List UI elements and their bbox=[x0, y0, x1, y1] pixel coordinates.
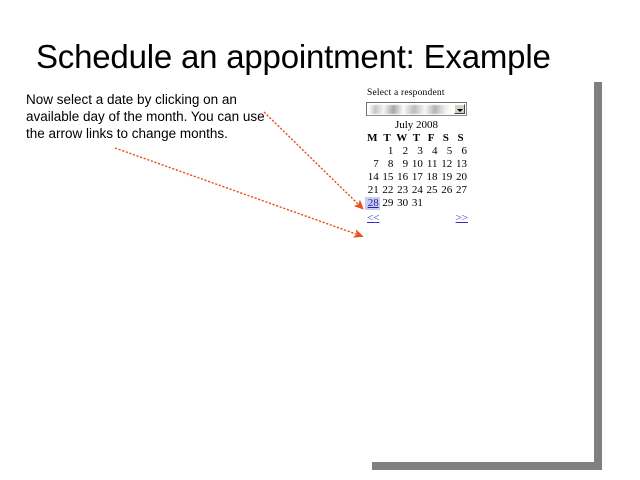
calendar-day-cell bbox=[365, 145, 380, 158]
calendar-day-cell: 27 bbox=[453, 184, 468, 197]
calendar-day-cell bbox=[424, 197, 439, 210]
calendar-day-cell: 1 bbox=[380, 145, 395, 158]
weekday-header-fri: F bbox=[424, 132, 439, 145]
next-month-link[interactable]: >> bbox=[454, 212, 468, 224]
calendar-day-cell: 13 bbox=[453, 158, 468, 171]
calendar-day-cell: 24 bbox=[409, 184, 424, 197]
weekday-header-wed: W bbox=[394, 132, 409, 145]
calendar-day-cell: 26 bbox=[439, 184, 454, 197]
calendar-day-cell bbox=[439, 197, 454, 210]
calendar-table: M T W T F S S 1 2 3 4 5 6 bbox=[365, 132, 468, 210]
calendar-day-cell: 16 bbox=[394, 171, 409, 184]
calendar-day-cell: 7 bbox=[365, 158, 380, 171]
calendar-weekday-header-row: M T W T F S S bbox=[365, 132, 468, 145]
calendar-day-cell: 23 bbox=[394, 184, 409, 197]
calendar-week-row: 21 22 23 24 25 26 27 bbox=[365, 184, 468, 197]
calendar-day-cell: 17 bbox=[409, 171, 424, 184]
weekday-header-mon: M bbox=[365, 132, 380, 145]
respondent-selected-value bbox=[369, 105, 451, 114]
calendar-day-cell: 6 bbox=[453, 145, 468, 158]
calendar-day-cell: 15 bbox=[380, 171, 395, 184]
calendar-day-cell: 18 bbox=[424, 171, 439, 184]
calendar-day-cell: 14 bbox=[365, 171, 380, 184]
calendar-day-cell: 3 bbox=[409, 145, 424, 158]
calendar-widget: Select a respondent July 2008 M T W T F … bbox=[365, 88, 480, 224]
calendar-week-row: 1 2 3 4 5 6 bbox=[365, 145, 468, 158]
weekday-header-tue: T bbox=[380, 132, 395, 145]
slide-canvas: Schedule an appointment: Example Now sel… bbox=[0, 0, 640, 480]
calendar-month-label: July 2008 bbox=[365, 119, 468, 131]
prev-month-link[interactable]: << bbox=[365, 212, 379, 224]
calendar-day-cell: 8 bbox=[380, 158, 395, 171]
calendar-week-row: 14 15 16 17 18 19 20 bbox=[365, 171, 468, 184]
chevron-down-icon[interactable] bbox=[454, 104, 465, 114]
calendar-day-cell: 2 bbox=[394, 145, 409, 158]
calendar-day-cell: 19 bbox=[439, 171, 454, 184]
arrow-to-prev-month-link bbox=[115, 148, 356, 234]
calendar-day-cell: 31 bbox=[409, 197, 424, 210]
calendar-day-link-28[interactable]: 28 bbox=[368, 197, 379, 209]
calendar-week-row: 28 29 30 31 bbox=[365, 197, 468, 210]
calendar-day-cell-selected[interactable]: 28 bbox=[365, 197, 380, 210]
weekday-header-thu: T bbox=[409, 132, 424, 145]
calendar-day-cell: 30 bbox=[394, 197, 409, 210]
calendar-week-row: 7 8 9 10 11 12 13 bbox=[365, 158, 468, 171]
calendar-day-cell: 25 bbox=[424, 184, 439, 197]
calendar-day-cell: 9 bbox=[394, 158, 409, 171]
slide-shadow-right bbox=[594, 82, 602, 464]
calendar-day-cell: 20 bbox=[453, 171, 468, 184]
calendar-nav: << >> bbox=[365, 212, 468, 224]
weekday-header-sat: S bbox=[439, 132, 454, 145]
calendar-day-cell bbox=[453, 197, 468, 210]
calendar-day-cell: 22 bbox=[380, 184, 395, 197]
calendar-day-cell: 4 bbox=[424, 145, 439, 158]
calendar-day-cell: 29 bbox=[380, 197, 395, 210]
respondent-label: Select a respondent bbox=[367, 88, 480, 98]
calendar-day-cell: 5 bbox=[439, 145, 454, 158]
arrow-to-day-row bbox=[264, 112, 358, 204]
calendar-day-cell: 12 bbox=[439, 158, 454, 171]
page-title: Schedule an appointment: Example bbox=[36, 38, 616, 76]
calendar-day-cell: 11 bbox=[424, 158, 439, 171]
weekday-header-sun: S bbox=[453, 132, 468, 145]
slide-shadow-bottom bbox=[372, 462, 602, 470]
instruction-text: Now select a date by clicking on an avai… bbox=[26, 91, 271, 142]
respondent-select[interactable] bbox=[366, 102, 467, 116]
calendar-day-cell: 10 bbox=[409, 158, 424, 171]
calendar-day-cell: 21 bbox=[365, 184, 380, 197]
